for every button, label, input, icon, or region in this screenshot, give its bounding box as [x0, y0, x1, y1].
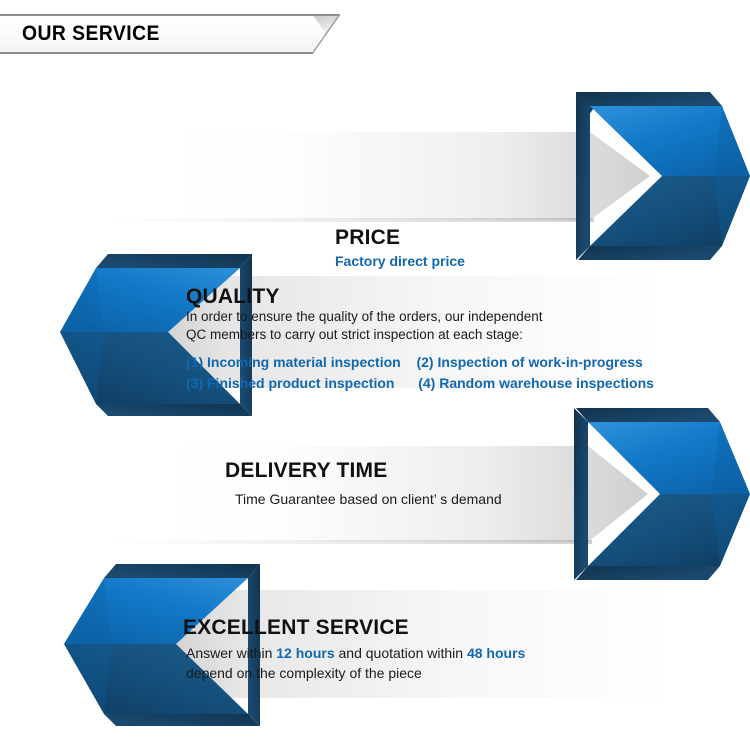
delivery-subtitle: Time Guarantee based on client’ s demand	[235, 490, 502, 509]
excellent-line-2: depend on the complexity of the piece	[186, 663, 525, 683]
excellent-answer-prefix: Answer within	[186, 645, 276, 661]
price-text-block: PRICE Factory direct price	[335, 226, 465, 271]
quality-line-1: In order to ensure the quality of the or…	[186, 308, 654, 326]
service-row-price: PRICE Factory direct price	[110, 84, 750, 268]
page-title: OUR SERVICE	[22, 22, 160, 46]
excellent-answer-middle: and quotation within	[335, 645, 467, 661]
quality-text-block: QUALITY In order to ensure the quality o…	[186, 285, 654, 394]
quality-line-2: QC members to carry out strict inspectio…	[186, 326, 654, 344]
quality-item-row-1: (1) Incoming material inspection (2) Ins…	[186, 352, 654, 373]
excellent-text-block: EXCELLENT SERVICE Answer within 12 hours…	[183, 616, 525, 684]
service-row-excellent: EXCELLENT SERVICE Answer within 12 hours…	[20, 556, 720, 728]
quality-item-3: (3) Finished product inspection	[186, 375, 394, 391]
delivery-text-block: DELIVERY TIME Time Guarantee based on cl…	[225, 459, 502, 509]
quality-item-2: (2) Inspection of work-in-progress	[416, 354, 642, 370]
price-subtitle: Factory direct price	[335, 252, 465, 271]
excellent-heading: EXCELLENT SERVICE	[183, 616, 525, 639]
service-row-quality: QUALITY In order to ensure the quality o…	[20, 246, 720, 418]
quality-item-1: (1) Incoming material inspection	[186, 354, 401, 370]
quality-item-row-2: (3) Finished product inspection (4) Rand…	[186, 373, 654, 394]
excellent-quote-hours: 48 hours	[467, 645, 525, 661]
quality-items: (1) Incoming material inspection (2) Ins…	[186, 352, 654, 394]
delivery-heading: DELIVERY TIME	[225, 459, 502, 482]
header-banner: OUR SERVICE	[0, 14, 340, 54]
quality-item-4: (4) Random warehouse inspections	[418, 375, 654, 391]
quality-heading: QUALITY	[186, 285, 654, 308]
excellent-answer-hours: 12 hours	[276, 645, 334, 661]
price-heading: PRICE	[335, 226, 465, 249]
excellent-line-1: Answer within 12 hours and quotation wit…	[186, 643, 525, 663]
